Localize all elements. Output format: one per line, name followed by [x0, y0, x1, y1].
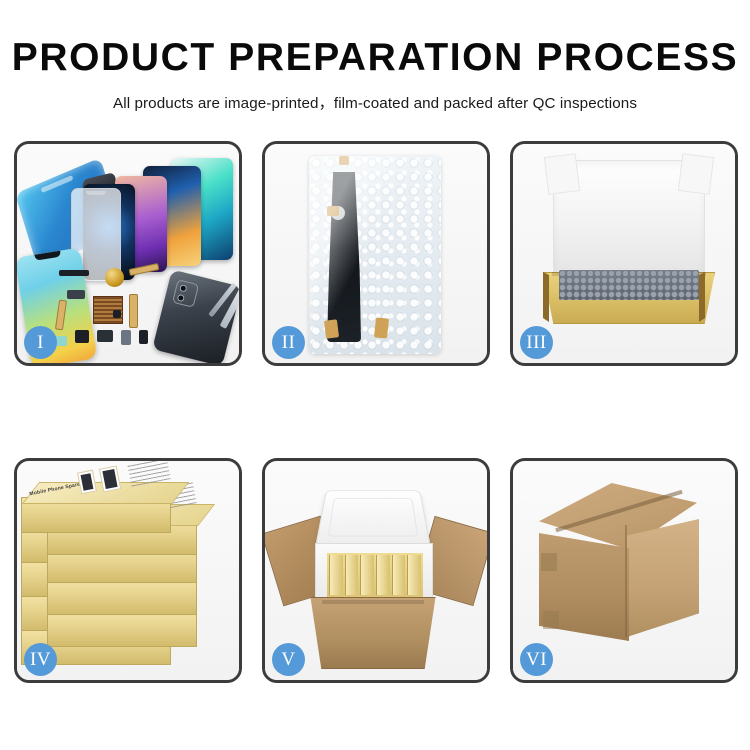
small-part-8: [113, 310, 121, 318]
step-panel-1: I: [14, 141, 242, 366]
glass-notch: [86, 191, 106, 195]
step-panel-6: VI: [510, 458, 738, 683]
step-badge-4: IV: [24, 643, 57, 676]
page-title: PRODUCT PREPARATION PROCESS: [0, 38, 750, 77]
box-label-swatch-top-1: [77, 470, 97, 495]
carton-tape-patch-2: [543, 611, 559, 629]
inner-yellow-boxes: [327, 553, 423, 597]
wrapped-phone-part: [327, 172, 361, 342]
small-part-2: [67, 290, 85, 299]
step-panel-5: V: [262, 458, 490, 683]
connector-tape-3: [324, 319, 339, 338]
step-badge-1: I: [24, 326, 57, 359]
carton-body: [305, 597, 441, 669]
page-header: PRODUCT PREPARATION PROCESS All products…: [0, 0, 750, 113]
small-part-6: [139, 330, 148, 344]
speaker-coil-part: [105, 268, 124, 287]
small-part-4: [97, 330, 113, 342]
step-badge-6: VI: [520, 643, 553, 676]
kraft-box-front-1: [47, 611, 197, 647]
step-panel-4: Mobile Phone Spare Parts Mobile Phone Sp…: [14, 458, 242, 683]
step-badge-3: III: [520, 326, 553, 359]
white-foam-lid: [553, 160, 705, 278]
kraft-box-labeled-top: [21, 497, 171, 533]
small-part-5: [121, 330, 131, 345]
kraft-box-front-2: [47, 579, 197, 615]
step-badge-2: II: [272, 326, 305, 359]
small-part-1: [59, 270, 89, 276]
box-edge-left: [543, 272, 549, 322]
carton-corner-edge: [625, 525, 627, 637]
process-step-grid: I II III: [14, 141, 738, 683]
flex-cable-part-2: [129, 294, 138, 328]
camera-module-icon: [172, 279, 199, 308]
phone-display-fan: [75, 158, 242, 276]
connector-tape-1: [339, 156, 349, 165]
step-badge-5: V: [272, 643, 305, 676]
box-edge-right: [699, 272, 705, 322]
foam-box-lid: [315, 490, 431, 547]
box-label-swatch-top-2: [99, 466, 121, 493]
step-panel-3: III: [510, 141, 738, 366]
sealed-carton-side: [627, 519, 699, 637]
step-panel-2: II: [262, 141, 490, 366]
carton-tape-patch-1: [541, 553, 557, 571]
page-subtitle: All products are image-printed，film-coat…: [0, 91, 750, 113]
connector-tape-4: [374, 317, 389, 338]
connector-tape-2: [327, 206, 339, 216]
small-part-3: [75, 330, 89, 343]
gray-bubble-foam-contents: [559, 270, 699, 300]
film-notch: [41, 175, 74, 193]
